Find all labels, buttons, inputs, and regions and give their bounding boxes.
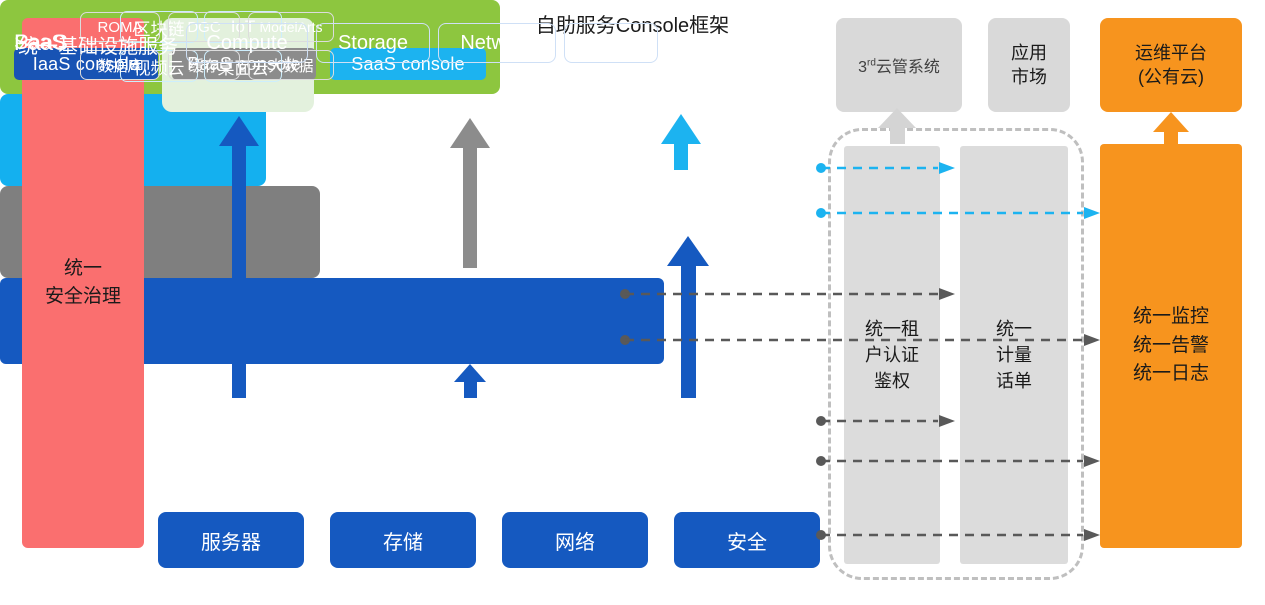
ops-platform-label: 运维平台(公有云) [1135, 41, 1207, 90]
infra-chip-storage[interactable]: Storage [316, 23, 430, 63]
shared-auth-column: 统一租户认证鉴权 [844, 146, 940, 564]
arrow-infra-to-saas [667, 236, 709, 398]
arrow-paas-to-console [450, 118, 490, 268]
arrow-saas-to-console [661, 114, 701, 170]
architecture-diagram: 统一安全治理 API网关 自助服务Console框架 IaaS console … [0, 0, 1265, 605]
arrow-infra-to-paas [454, 364, 486, 398]
app-market-label: 应用市场 [1011, 41, 1047, 90]
security-governance-block: 统一安全治理 [22, 18, 144, 548]
third-party-cloud-label: 3rd云管系统 [858, 53, 940, 77]
infra-chip-compute[interactable]: Compute [186, 23, 308, 63]
ops-monitoring-label: 统一监控统一告警统一日志 [1133, 303, 1209, 389]
third-party-cloud-management-block: 3rd云管系统 [836, 18, 962, 112]
ops-platform-block: 运维平台(公有云) [1100, 18, 1242, 112]
security-governance-label: 统一安全治理 [45, 255, 121, 310]
hardware-block-server: 服务器 [158, 512, 304, 568]
shared-billing-label: 统一计量话单 [996, 316, 1032, 394]
infrastructure-service-label: 统一基础设施服务 [18, 30, 178, 59]
hardware-block-storage: 存储 [330, 512, 476, 568]
ops-monitoring-column: 统一监控统一告警统一日志 [1100, 144, 1242, 548]
hardware-label-storage: 存储 [383, 526, 423, 555]
shared-billing-column: 统一计量话单 [960, 146, 1068, 564]
arrow-ops-column-to-platform [1153, 112, 1189, 146]
app-market-block: 应用市场 [988, 18, 1070, 112]
infra-chip-network[interactable]: Network [438, 23, 556, 63]
hardware-block-security: 安全 [674, 512, 820, 568]
hardware-label-network: 网络 [555, 526, 595, 555]
infra-chip-cce[interactable]: CCE [564, 23, 658, 63]
hardware-block-network: 网络 [502, 512, 648, 568]
hardware-label-security: 安全 [727, 526, 767, 555]
hardware-label-server: 服务器 [201, 526, 261, 555]
shared-auth-label: 统一租户认证鉴权 [865, 316, 919, 394]
